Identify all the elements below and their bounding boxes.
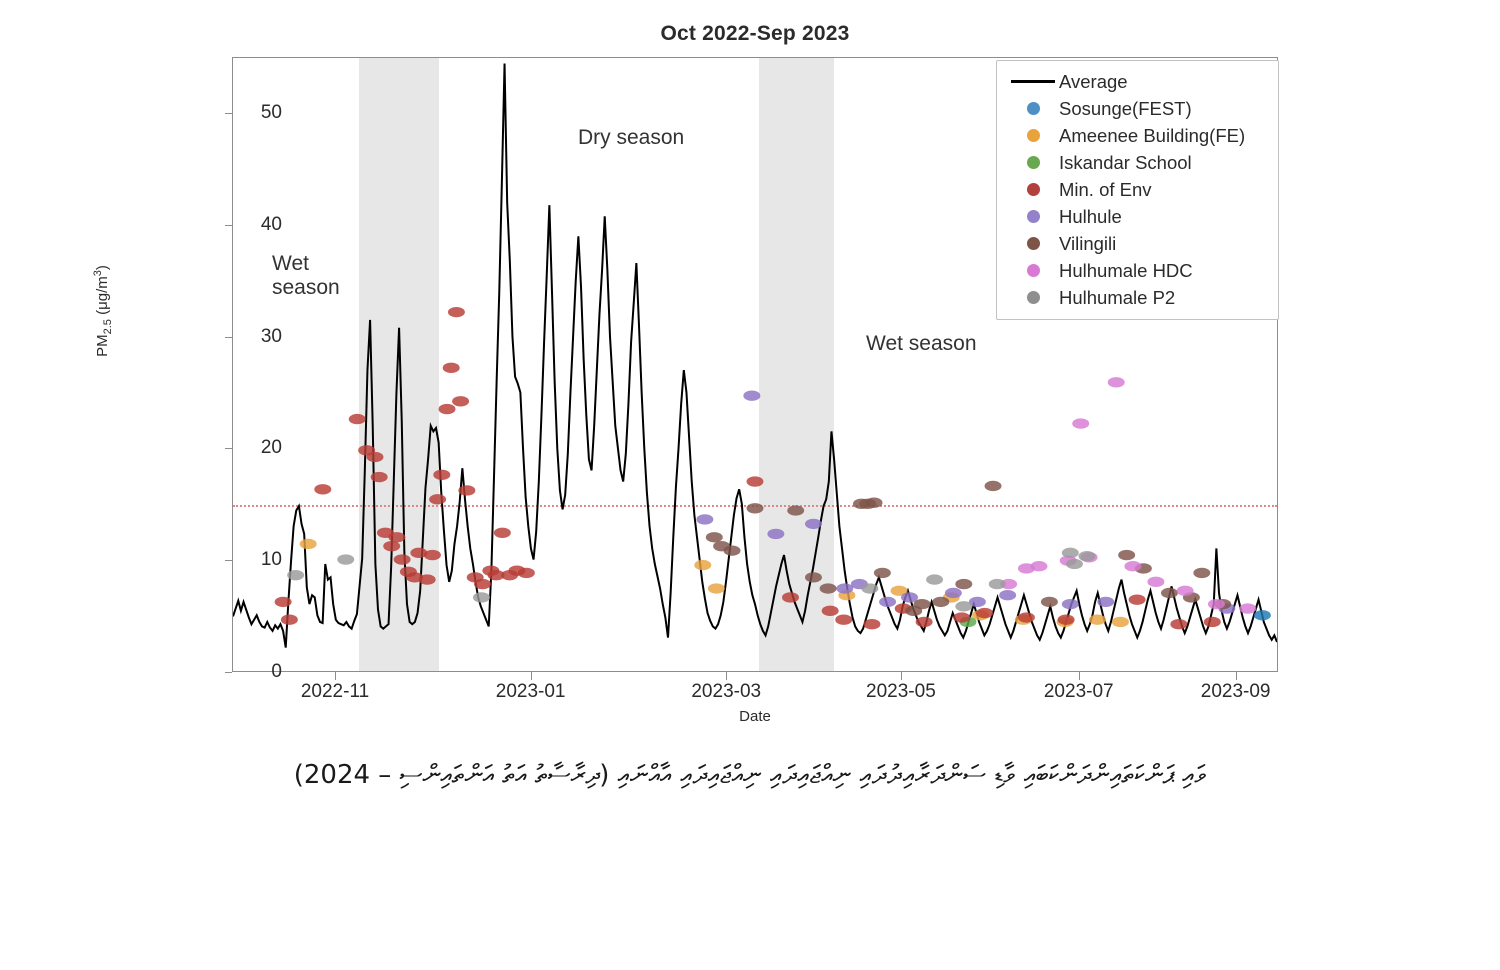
legend-item-label: Hulhumale HDC [1059, 260, 1193, 282]
scatter-point [1177, 586, 1194, 596]
legend-dot-icon [1027, 156, 1040, 169]
scatter-point [1118, 550, 1135, 560]
scatter-point [835, 615, 852, 625]
legend-item-sosunge-fest[interactable]: Sosunge(FEST) [1007, 95, 1268, 122]
scatter-point [429, 494, 446, 504]
legend-dot-icon [1027, 210, 1040, 223]
scatter-point [1204, 617, 1221, 627]
y-tick-mark [225, 448, 232, 449]
y-tick-label: 50 [261, 102, 282, 124]
scatter-point [1097, 597, 1114, 607]
y-tick-mark [225, 672, 232, 673]
x-tick-label: 2023-03 [691, 681, 761, 703]
scatter-point [443, 363, 460, 373]
scatter-point [1124, 561, 1141, 571]
scatter-point [394, 554, 411, 564]
scatter-point [1108, 377, 1125, 387]
legend-dot-icon [1027, 264, 1040, 277]
legend-item-label: Iskandar School [1059, 152, 1192, 174]
scatter-point [914, 599, 931, 609]
scatter-point [724, 545, 741, 555]
scatter-point [879, 597, 896, 607]
scatter-point [874, 568, 891, 578]
y-tick-label: 20 [261, 437, 282, 459]
scatter-point [1058, 615, 1075, 625]
scatter-point [1072, 418, 1089, 428]
legend-item-iskandar-school[interactable]: Iskandar School [1007, 149, 1268, 176]
legend-item-ameenee-building-fe[interactable]: Ameenee Building(FE) [1007, 122, 1268, 149]
air-quality-figure: Oct 2022-Sep 2023 01020304050 PM2.5 (μg/… [0, 0, 1500, 740]
scatter-point [1161, 588, 1178, 598]
scatter-point [494, 528, 511, 538]
legend-line-icon [1011, 80, 1055, 83]
scatter-point [926, 574, 943, 584]
legend-item-label: Sosunge(FEST) [1059, 98, 1192, 120]
scatter-point [473, 592, 490, 602]
x-tick-mark [726, 672, 727, 680]
scatter-point [349, 414, 366, 424]
scatter-point [1062, 548, 1079, 558]
scatter-point [861, 583, 878, 593]
legend-item-min-of-env[interactable]: Min. of Env [1007, 176, 1268, 203]
scatter-point [371, 472, 388, 482]
season-label-1: Wet season [272, 252, 340, 299]
scatter-point [518, 568, 535, 578]
legend-item-label: Min. of Env [1059, 179, 1152, 201]
season-label-2: Dry season [578, 126, 684, 150]
scatter-point [916, 617, 933, 627]
chart-title: Oct 2022-Sep 2023 [232, 22, 1278, 46]
scatter-group-min-of-env [275, 307, 1221, 629]
scatter-point [281, 615, 298, 625]
scatter-point [945, 588, 962, 598]
scatter-point [474, 579, 491, 589]
y-tick-label: 0 [271, 661, 282, 683]
legend-item-hulhumale-hdc[interactable]: Hulhumale HDC [1007, 257, 1268, 284]
scatter-point [388, 532, 405, 542]
scatter-point [1193, 568, 1210, 578]
legend-item-hulhumale-p2[interactable]: Hulhumale P2 [1007, 284, 1268, 311]
scatter-point [300, 539, 317, 549]
scatter-point [767, 529, 784, 539]
scatter-point [1089, 615, 1106, 625]
legend-item-label: Ameenee Building(FE) [1059, 125, 1245, 147]
scatter-point [820, 583, 837, 593]
scatter-point [805, 519, 822, 529]
legend-line-key [1007, 80, 1059, 83]
legend-item-label: Hulhule [1059, 206, 1122, 228]
scatter-point [1030, 561, 1047, 571]
legend-item-label: Average [1059, 71, 1128, 93]
scatter-point [1170, 619, 1187, 629]
scatter-point [747, 476, 764, 486]
scatter-point [805, 572, 822, 582]
x-tick-mark [1236, 672, 1237, 680]
scatter-point [999, 590, 1016, 600]
x-tick-mark [901, 672, 902, 680]
legend-item-hulhule[interactable]: Hulhule [1007, 203, 1268, 230]
scatter-point [1066, 559, 1083, 569]
y-tick-label: 30 [261, 326, 282, 348]
legend-dot-key [1007, 210, 1059, 223]
x-tick-label: 2023-07 [1044, 681, 1114, 703]
legend-dot-icon [1027, 291, 1040, 304]
y-tick-label: 40 [261, 214, 282, 236]
legend-item-label: Hulhumale P2 [1059, 287, 1175, 309]
scatter-point [696, 514, 713, 524]
legend-dot-icon [1027, 129, 1040, 142]
x-tick-label: 2023-09 [1201, 681, 1271, 703]
scatter-point [1079, 551, 1096, 561]
scatter-point [743, 391, 760, 401]
x-tick-mark [1079, 672, 1080, 680]
scatter-point [787, 505, 804, 515]
scatter-point [439, 404, 456, 414]
scatter-point [275, 597, 292, 607]
scatter-point [1208, 599, 1225, 609]
y-tick-mark [225, 225, 232, 226]
scatter-point [1112, 617, 1129, 627]
y-tick-mark [225, 337, 232, 338]
legend-item-vilingili[interactable]: Vilingili [1007, 230, 1268, 257]
scatter-point [1254, 610, 1271, 620]
y-tick-mark [225, 560, 232, 561]
scatter-point [314, 484, 331, 494]
figure-caption: ވައި ޕަންކަތައިންދަންކަބައި ވާޑި ސަންދަރ… [0, 760, 1500, 791]
scatter-point [747, 503, 764, 513]
scatter-point [433, 470, 450, 480]
scatter-point [932, 597, 949, 607]
legend-dot-icon [1027, 183, 1040, 196]
scatter-point [708, 583, 725, 593]
x-tick-mark [335, 672, 336, 680]
legend-dot-key [1007, 183, 1059, 196]
scatter-point [1041, 597, 1058, 607]
legend-dot-key [1007, 102, 1059, 115]
scatter-point [424, 550, 441, 560]
scatter-point [458, 485, 475, 495]
x-tick-label: 2023-01 [496, 681, 566, 703]
scatter-point [863, 619, 880, 629]
scatter-group-sosunge-fest [1254, 610, 1271, 620]
scatter-point [955, 601, 972, 611]
legend-dot-key [1007, 156, 1059, 169]
x-tick-label: 2022-11 [301, 681, 369, 703]
scatter-point [822, 606, 839, 616]
legend-dot-key [1007, 129, 1059, 142]
season-label-3: Wet season [866, 332, 977, 356]
scatter-point [976, 608, 993, 618]
x-tick-mark [531, 672, 532, 680]
scatter-point [706, 532, 723, 542]
y-axis-label: PM2.5 (μg/m3) [92, 201, 114, 421]
scatter-point [694, 560, 711, 570]
y-tick-label: 10 [261, 549, 282, 571]
scatter-point [1129, 594, 1146, 604]
scatter-group-hulhumale-hdc [1000, 377, 1256, 614]
legend-dot-icon [1027, 102, 1040, 115]
legend-dot-key [1007, 291, 1059, 304]
legend-dot-key [1007, 237, 1059, 250]
scatter-point [836, 583, 853, 593]
scatter-point [989, 579, 1006, 589]
scatter-point [866, 498, 883, 508]
scatter-point [1147, 577, 1164, 587]
scatter-point [985, 481, 1002, 491]
scatter-point [367, 452, 384, 462]
x-tick-label: 2023-05 [866, 681, 936, 703]
legend-item-label: Vilingili [1059, 233, 1116, 255]
legend-dot-key [1007, 264, 1059, 277]
scatter-point [1239, 603, 1256, 613]
scatter-point [1062, 599, 1079, 609]
legend-dot-icon [1027, 237, 1040, 250]
scatter-point [419, 574, 436, 584]
scatter-point [955, 579, 972, 589]
chart-legend[interactable]: AverageSosunge(FEST)Ameenee Building(FE)… [996, 60, 1279, 320]
scatter-point [1018, 612, 1035, 622]
scatter-point [953, 612, 970, 622]
y-tick-mark [225, 113, 232, 114]
scatter-point [782, 592, 799, 602]
scatter-point [452, 396, 469, 406]
legend-item-average[interactable]: Average [1007, 68, 1268, 95]
scatter-point [337, 554, 354, 564]
scatter-point [287, 570, 304, 580]
scatter-point [383, 541, 400, 551]
scatter-point [448, 307, 465, 317]
x-axis-label: Date [232, 708, 1278, 721]
